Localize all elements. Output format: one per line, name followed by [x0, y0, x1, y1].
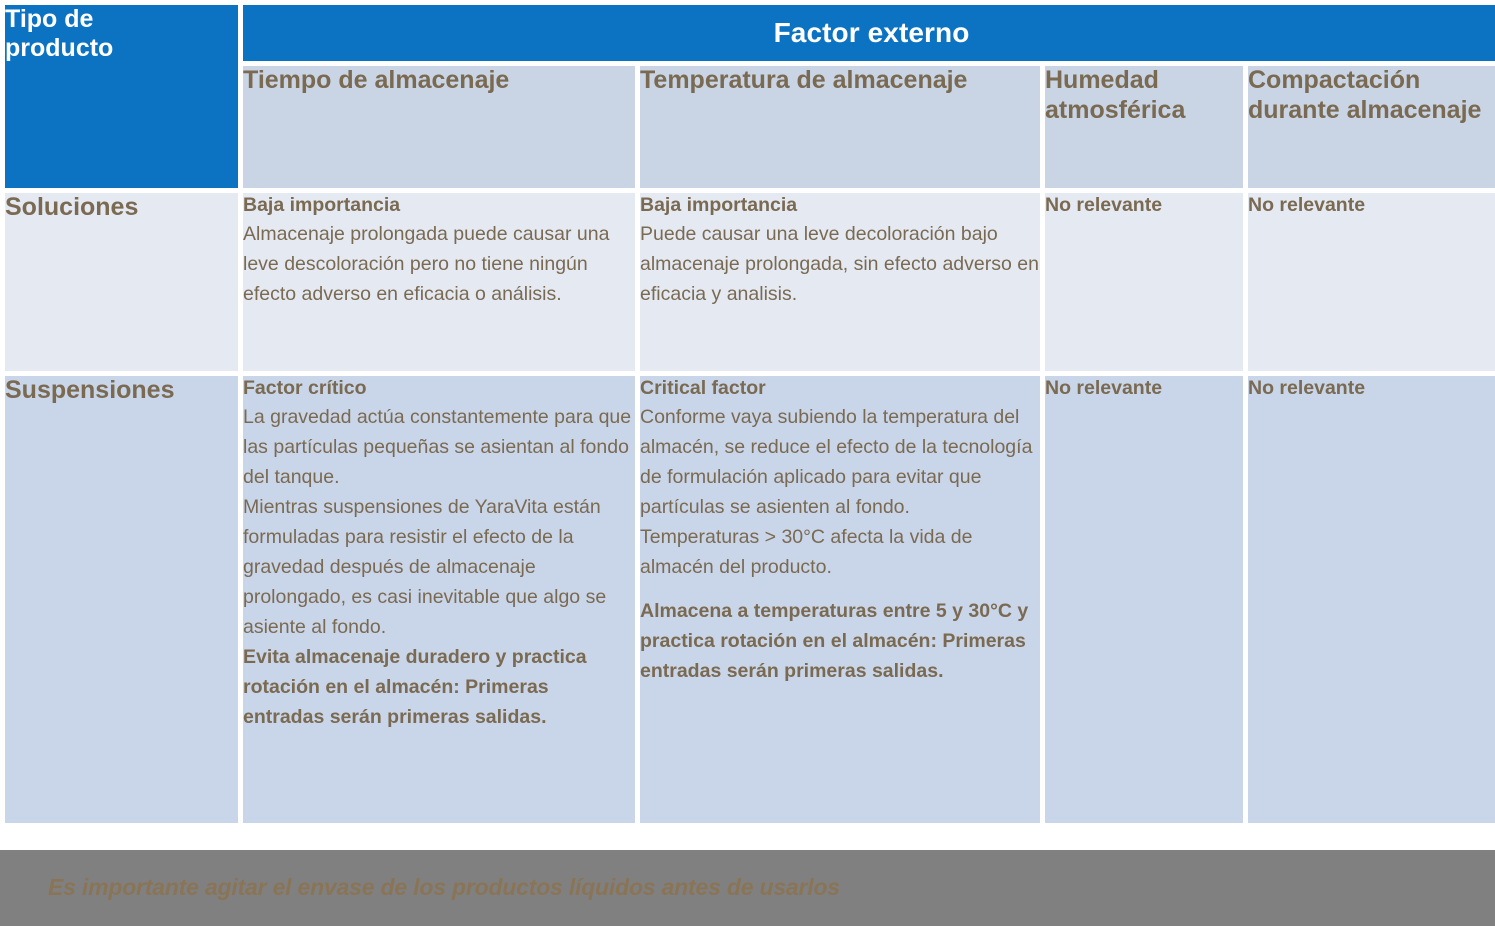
paragraph-spacer: [640, 582, 1040, 596]
cell-soluciones-compactacion: No relevante: [1248, 193, 1495, 371]
corner-header-cell: Tipo de producto: [5, 5, 238, 188]
cell-body: Almacenaje prolongada puede causar una l…: [243, 219, 635, 309]
cell-soluciones-humedad: No relevante: [1045, 193, 1243, 371]
cell-title: Baja importancia: [640, 193, 1040, 218]
table-row: Suspensiones Factor crítico La gravedad …: [5, 376, 1495, 823]
cell-body-emphasis: Almacena a temperaturas entre 5 y 30°C y…: [640, 596, 1040, 686]
cell-value: No relevante: [1248, 193, 1495, 218]
table-banner-row: Tipo de producto Factor externo: [5, 5, 1495, 61]
column-header-humedad-label: Humedad atmosférica: [1045, 66, 1243, 125]
cell-value: No relevante: [1045, 193, 1243, 218]
banner-header-cell: Factor externo: [243, 5, 1495, 61]
cell-value: No relevante: [1045, 376, 1243, 401]
cell-suspensiones-compactacion: No relevante: [1248, 376, 1495, 823]
cell-value: No relevante: [1248, 376, 1495, 401]
column-header-compactacion: Compactación durante almacenaje: [1248, 66, 1495, 188]
column-header-tiempo-label: Tiempo de almacenaje: [243, 66, 635, 96]
corner-header-label: Tipo de producto: [5, 5, 238, 64]
footer-bar: Es importante agitar el envase de los pr…: [0, 850, 1495, 926]
column-header-humedad: Humedad atmosférica: [1045, 66, 1243, 188]
table-row: Soluciones Baja importancia Almacenaje p…: [5, 193, 1495, 371]
cell-title: Baja importancia: [243, 193, 635, 218]
column-header-compactacion-label: Compactación durante almacenaje: [1248, 66, 1495, 125]
cell-suspensiones-tiempo: Factor crítico La gravedad actúa constan…: [243, 376, 635, 823]
cell-body: Conforme vaya subiendo la temperatura de…: [640, 402, 1040, 582]
footer-note: Es importante agitar el envase de los pr…: [48, 874, 840, 901]
cell-body-emphasis: Evita almacenaje duradero y practica rot…: [243, 642, 635, 732]
column-header-tiempo: Tiempo de almacenaje: [243, 66, 635, 188]
cell-title: Factor crítico: [243, 376, 635, 401]
cell-body: La gravedad actúa constantemente para qu…: [243, 402, 635, 642]
cell-suspensiones-humedad: No relevante: [1045, 376, 1243, 823]
cell-soluciones-temperatura: Baja importancia Puede causar una leve d…: [640, 193, 1040, 371]
row-label-soluciones-text: Soluciones: [5, 193, 238, 223]
cell-suspensiones-temperatura: Critical factor Conforme vaya subiendo l…: [640, 376, 1040, 823]
factor-externo-table: Tipo de producto Factor externo Tiempo d…: [0, 0, 1495, 828]
cell-body: Puede causar una leve decoloración bajo …: [640, 219, 1040, 309]
row-label-suspensiones-text: Suspensiones: [5, 376, 238, 406]
row-label-soluciones: Soluciones: [5, 193, 238, 371]
banner-header-label: Factor externo: [243, 5, 1495, 61]
row-label-suspensiones: Suspensiones: [5, 376, 238, 823]
cell-title: Critical factor: [640, 376, 1040, 401]
column-header-temperatura: Temperatura de almacenaje: [640, 66, 1040, 188]
cell-soluciones-tiempo: Baja importancia Almacenaje prolongada p…: [243, 193, 635, 371]
column-header-temperatura-label: Temperatura de almacenaje: [640, 66, 1040, 96]
slide-root: Tipo de producto Factor externo Tiempo d…: [0, 0, 1495, 926]
